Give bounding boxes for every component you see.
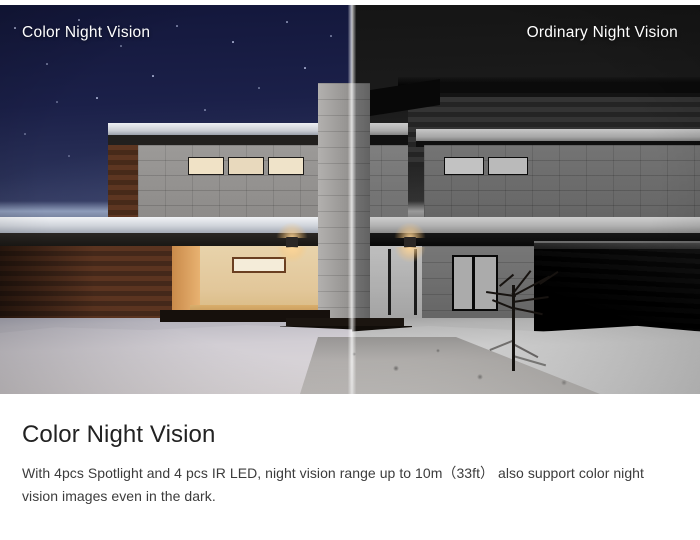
- comparison-divider: [348, 5, 356, 394]
- porch-step-1: [286, 318, 404, 326]
- caption-color-night-vision: Color Night Vision: [22, 24, 150, 42]
- hero-image: Color Night Vision Ordinary Night Vision: [0, 5, 700, 394]
- top-white-strip: [0, 0, 700, 5]
- feature-description: With 4pcs Spotlight and 4 pcs IR LED, ni…: [22, 462, 676, 507]
- snow-drift-color: [0, 323, 352, 394]
- feature-title: Color Night Vision: [22, 422, 676, 448]
- feature-text-block: Color Night Vision With 4pcs Spotlight a…: [0, 394, 700, 540]
- caption-ordinary-night-vision: Ordinary Night Vision: [527, 24, 678, 42]
- bare-tree: [480, 255, 600, 375]
- product-feature-page: Color Night Vision Ordinary Night Vision…: [0, 0, 700, 540]
